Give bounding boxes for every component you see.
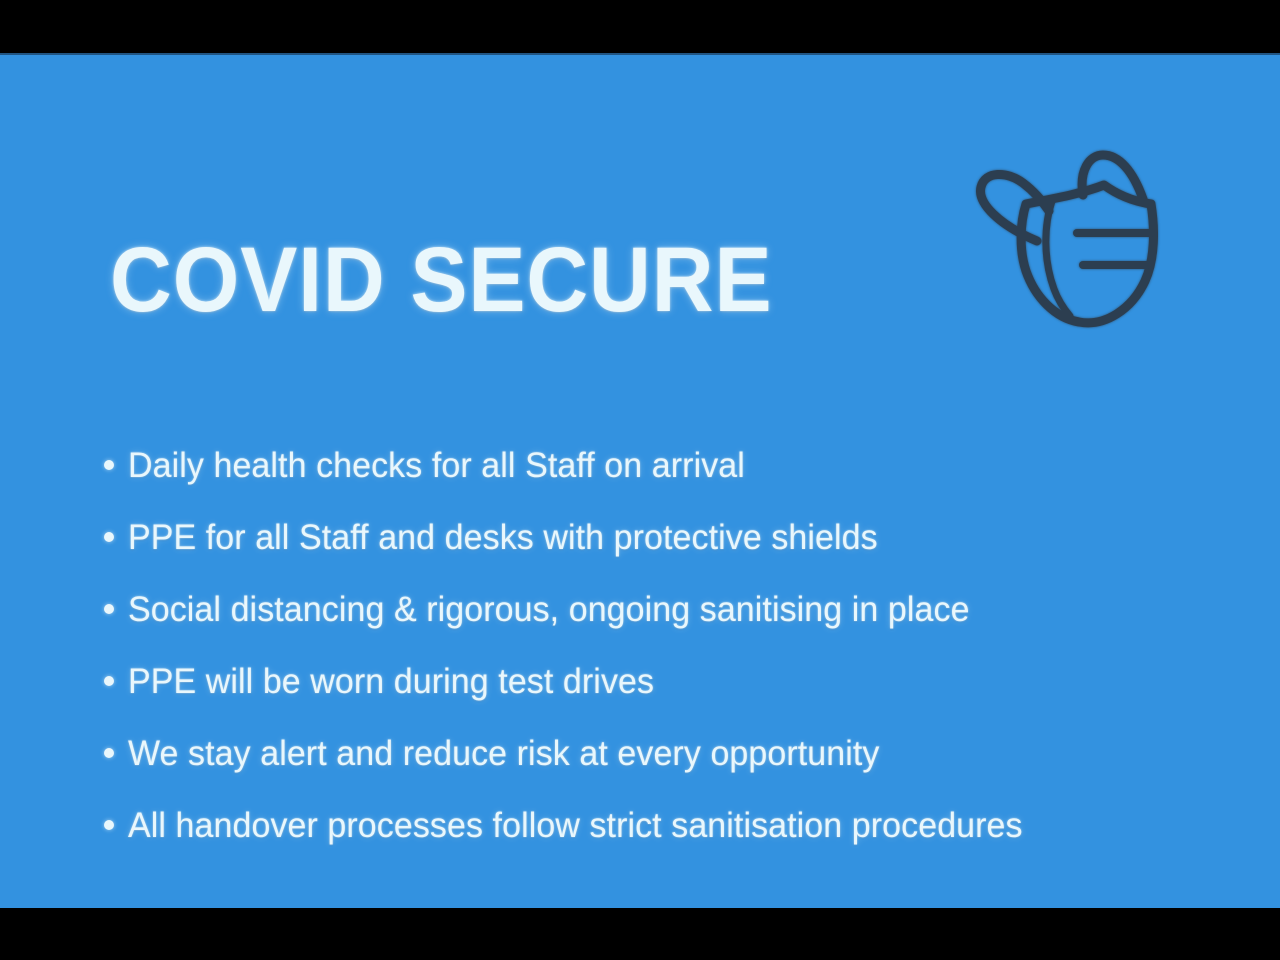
mask-inner-fold [1046,201,1070,316]
bullet-dot-icon [104,676,114,686]
slide-title: COVID SECURE [110,234,772,326]
bullet-dot-icon [104,604,114,614]
face-mask-icon [955,113,1195,333]
bullet-text: Daily health checks for all Staff on arr… [128,444,745,488]
bullet-text: PPE for all Staff and desks with protect… [128,516,878,560]
list-item: All handover processes follow strict san… [104,804,1224,876]
bullet-text: PPE will be worn during test drives [128,660,654,704]
slide-canvas: COVID SECURE Daily health checks for all… [0,53,1280,908]
list-item: Daily health checks for all Staff on arr… [104,444,1224,516]
list-item: We stay alert and reduce risk at every o… [104,732,1224,804]
letterbox-bar-top [0,0,1280,53]
bullet-dot-icon [104,460,114,470]
bullet-text: We stay alert and reduce risk at every o… [128,732,879,776]
bullet-dot-icon [104,820,114,830]
presentation-screen: COVID SECURE Daily health checks for all… [0,0,1280,960]
bullet-dot-icon [104,532,114,542]
list-item: PPE will be worn during test drives [104,660,1224,732]
list-item: Social distancing & rigorous, ongoing sa… [104,588,1224,660]
bullet-text: All handover processes follow strict san… [128,804,1023,848]
bullet-list: Daily health checks for all Staff on arr… [104,444,1224,876]
bullet-dot-icon [104,748,114,758]
list-item: PPE for all Staff and desks with protect… [104,516,1224,588]
mask-left-ear-loop [981,174,1049,241]
letterbox-bar-bottom [0,908,1280,960]
bullet-text: Social distancing & rigorous, ongoing sa… [128,588,970,632]
